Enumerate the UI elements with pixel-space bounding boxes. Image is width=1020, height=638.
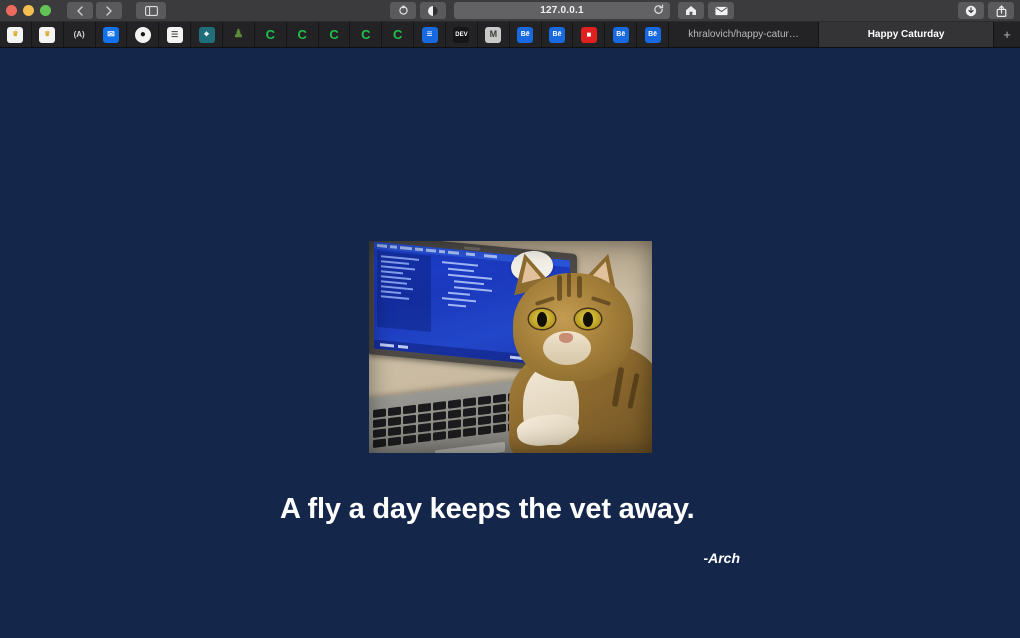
bookmark-notes[interactable]: ☰ [159, 22, 191, 47]
bookmark-c-2-icon: C [294, 27, 310, 43]
tab-label: khralovich/happy-catur… [688, 29, 799, 40]
bookmark-dev-icon: DEV [453, 27, 469, 43]
close-window-button[interactable] [6, 5, 17, 16]
bookmark-mail[interactable]: ✉ [96, 22, 128, 47]
extension-icon-2[interactable] [420, 2, 446, 19]
new-tab-button[interactable]: + [994, 22, 1020, 47]
bookmark-red-icon: ■ [581, 27, 597, 43]
back-button[interactable] [67, 2, 93, 19]
cat [499, 247, 652, 453]
bookmark-c-1-icon: C [262, 27, 278, 43]
browser-titlebar: 127.0.0.1 [0, 0, 1020, 22]
quote-attribution: -Arch [280, 550, 740, 566]
bookmark-c-4-icon: C [358, 27, 374, 43]
bookmark-crown-1[interactable]: ♛ [0, 22, 32, 47]
tab-happy-caturday-repo[interactable]: khralovich/happy-catur… [669, 22, 819, 47]
window-controls [6, 5, 51, 16]
bookmark-angular-icon: (A) [71, 27, 87, 43]
bookmark-behance-3-icon: Bē [613, 27, 629, 43]
bookmark-behance-1[interactable]: Bē [510, 22, 542, 47]
bookmark-c-5[interactable]: C [382, 22, 414, 47]
bookmarks-bar: ♛ ♛ (A) ✉ ● ☰ ⌖ ♟ C C C C C ≡ DEV M Bē B… [0, 22, 1020, 48]
bookmark-crown-2[interactable]: ♛ [32, 22, 64, 47]
bookmark-compass[interactable]: ⌖ [191, 22, 223, 47]
navigation-buttons [67, 2, 122, 19]
sidebar-toggle-icon[interactable] [136, 2, 166, 19]
bookmark-c-3-icon: C [326, 27, 342, 43]
bookmark-c-5-icon: C [390, 27, 406, 43]
bookmark-medium-icon: M [485, 27, 501, 43]
bookmark-crown-2-icon: ♛ [39, 27, 55, 43]
bookmark-crown-1-icon: ♛ [7, 27, 23, 43]
screen-file-tree [377, 251, 431, 332]
bookmark-github-icon: ● [135, 27, 151, 43]
bookmark-c-3[interactable]: C [319, 22, 351, 47]
tab-label: Happy Caturday [868, 29, 945, 40]
bookmark-doc[interactable]: ≡ [414, 22, 446, 47]
tab-happy-caturday[interactable]: Happy Caturday [819, 22, 994, 47]
tab-strip: khralovich/happy-catur… Happy Caturday + [669, 22, 1020, 47]
bookmark-behance-4[interactable]: Bē [637, 22, 669, 47]
bookmark-github[interactable]: ● [127, 22, 159, 47]
cat-eye-left [529, 309, 555, 329]
bookmark-behance-2-icon: Bē [549, 27, 565, 43]
bookmark-behance-1-icon: Bē [517, 27, 533, 43]
bookmark-c-2[interactable]: C [287, 22, 319, 47]
bookmark-person[interactable]: ♟ [223, 22, 255, 47]
bookmark-medium[interactable]: M [478, 22, 510, 47]
minimize-window-button[interactable] [23, 5, 34, 16]
bookmark-doc-icon: ≡ [422, 27, 438, 43]
bookmark-c-4[interactable]: C [350, 22, 382, 47]
address-bar[interactable]: 127.0.0.1 [454, 2, 670, 19]
reload-icon[interactable] [653, 2, 664, 20]
bookmark-red[interactable]: ■ [573, 22, 605, 47]
cat-at-laptop-photo [369, 241, 652, 453]
cat-nose [559, 333, 573, 343]
bookmark-behance-4-icon: Bē [645, 27, 661, 43]
bookmark-mail-icon: ✉ [103, 27, 119, 43]
cat-eye-right [575, 309, 601, 329]
bookmark-angular[interactable]: (A) [64, 22, 96, 47]
bookmark-compass-icon: ⌖ [199, 27, 215, 43]
cat-head [513, 273, 633, 381]
page-body: A fly a day keeps the vet away. -Arch [0, 48, 1020, 638]
share-icon[interactable] [988, 2, 1014, 19]
home-icon[interactable] [678, 2, 704, 19]
bookmark-notes-icon: ☰ [167, 27, 183, 43]
bookmark-person-icon: ♟ [230, 27, 246, 43]
address-bar-url: 127.0.0.1 [540, 5, 584, 16]
mail-icon[interactable] [708, 2, 734, 19]
maximize-window-button[interactable] [40, 5, 51, 16]
extension-icon-1[interactable] [390, 2, 416, 19]
browser-chrome: 127.0.0.1 [0, 0, 1020, 48]
page-content: A fly a day keeps the vet away. -Arch [0, 241, 1020, 566]
forward-button[interactable] [96, 2, 122, 19]
quote-text: A fly a day keeps the vet away. [280, 493, 740, 526]
bookmark-dev[interactable]: DEV [446, 22, 478, 47]
bookmark-behance-3[interactable]: Bē [605, 22, 637, 47]
bookmark-behance-2[interactable]: Bē [542, 22, 574, 47]
downloads-icon[interactable] [958, 2, 984, 19]
bookmark-c-1[interactable]: C [255, 22, 287, 47]
